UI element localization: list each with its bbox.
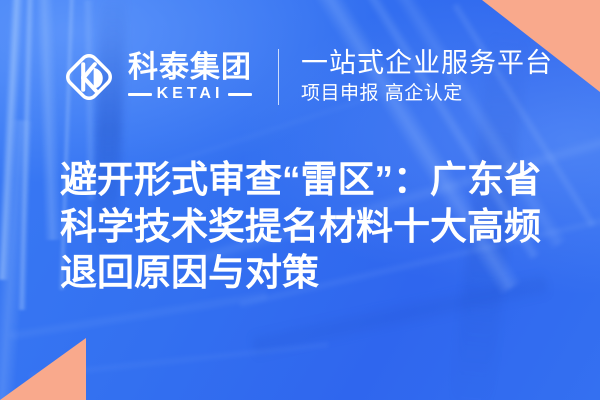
- tagline-block: 一站式企业服务平台 项目申报 高企认定: [301, 48, 553, 105]
- logo-company-cn: 科泰集团: [128, 52, 252, 84]
- logo-company-en-row: KETAI: [128, 86, 252, 102]
- banner-header: 科泰集团 KETAI 一站式企业服务平台 项目申报 高企认定: [60, 42, 560, 112]
- brand-logo: 科泰集团 KETAI: [60, 48, 252, 106]
- tagline-main: 一站式企业服务平台: [301, 48, 553, 78]
- logo-dash-left: [128, 93, 152, 96]
- corner-accent-bottom-left: [0, 338, 86, 400]
- banner-headline: 避开形式审查“雷区”：广东省科学技术奖提名材料十大高频退回原因与对策: [60, 157, 556, 297]
- promo-banner: 科泰集团 KETAI 一站式企业服务平台 项目申报 高企认定 避开形式审查“雷区…: [0, 0, 600, 400]
- logo-wordmark: 科泰集团 KETAI: [128, 52, 252, 103]
- logo-company-en: KETAI: [157, 86, 224, 102]
- logo-dash-right: [228, 93, 252, 96]
- header-divider: [278, 49, 279, 105]
- ketai-diamond-monogram-icon: [60, 48, 118, 106]
- tagline-sub: 项目申报 高企认定: [301, 83, 553, 106]
